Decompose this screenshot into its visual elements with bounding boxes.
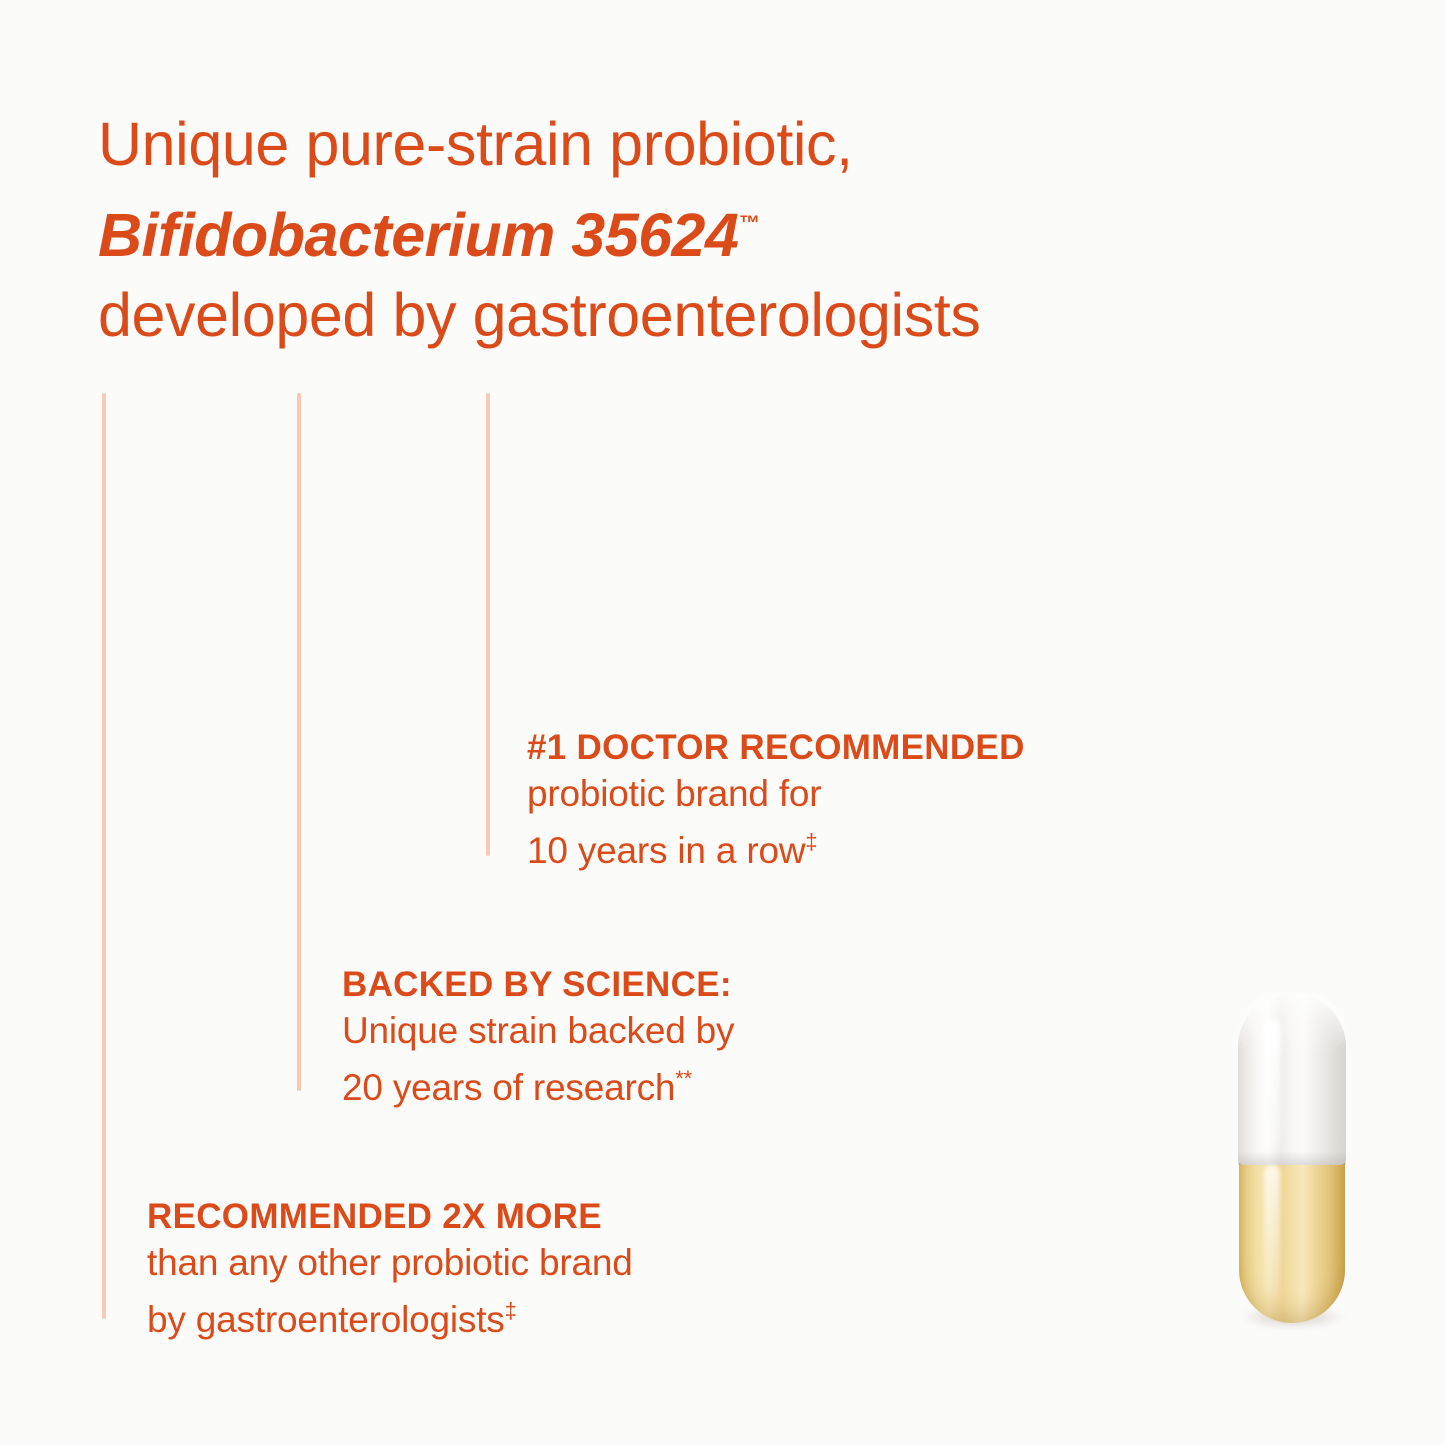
vertical-rule-short bbox=[486, 393, 490, 856]
headline-line-1: Unique pure-strain probiotic, bbox=[98, 104, 1388, 184]
claim-1-heading: #1 DOCTOR RECOMMENDED bbox=[527, 726, 1025, 770]
vertical-rule-long bbox=[102, 393, 106, 1319]
trademark-icon: ™ bbox=[738, 212, 759, 235]
claim-2-body-line-1: Unique strain backed by bbox=[342, 1007, 734, 1055]
claim-recommended-2x-more: RECOMMENDED 2X MORE than any other probi… bbox=[147, 1195, 633, 1344]
capsule-cap-white bbox=[1238, 993, 1346, 1165]
headline-line-2: Bifidobacterium 35624™ bbox=[98, 184, 1388, 275]
strain-name: Bifidobacterium 35624 bbox=[98, 201, 738, 269]
claim-1-body-line-2: 10 years in a row‡ bbox=[527, 818, 1025, 875]
claim-doctor-recommended: #1 DOCTOR RECOMMENDED probiotic brand fo… bbox=[527, 726, 1025, 875]
vertical-rule-medium bbox=[297, 393, 301, 1091]
claim-backed-by-science: BACKED BY SCIENCE: Unique strain backed … bbox=[342, 963, 734, 1112]
capsule-body-yellow bbox=[1239, 1155, 1345, 1323]
claim-2-footnote-marker: ** bbox=[675, 1066, 692, 1091]
headline-line-3: developed by gastroenterologists bbox=[98, 275, 1388, 355]
claim-3-heading: RECOMMENDED 2X MORE bbox=[147, 1195, 633, 1239]
claim-3-footnote-marker: ‡ bbox=[505, 1298, 517, 1323]
claim-1-body-line-1: probiotic brand for bbox=[527, 770, 1025, 818]
page-headline: Unique pure-strain probiotic, Bifidobact… bbox=[98, 104, 1388, 355]
claim-3-body-text: by gastroenterologists bbox=[147, 1299, 505, 1340]
claim-2-body-line-2: 20 years of research** bbox=[342, 1055, 734, 1112]
claim-3-body-line-1: than any other probiotic brand bbox=[147, 1239, 633, 1287]
claim-1-footnote-marker: ‡ bbox=[805, 829, 817, 854]
capsule-body-highlight bbox=[1264, 1165, 1280, 1297]
claim-1-body-text: 10 years in a row bbox=[527, 830, 805, 871]
capsule-image bbox=[1238, 993, 1348, 1325]
claim-3-body-line-2: by gastroenterologists‡ bbox=[147, 1287, 633, 1344]
claim-2-body-text: 20 years of research bbox=[342, 1067, 675, 1108]
claim-2-heading: BACKED BY SCIENCE: bbox=[342, 963, 734, 1007]
product-feature-panel: Unique pure-strain probiotic, Bifidobact… bbox=[0, 0, 1445, 1445]
capsule-cap-highlight bbox=[1264, 1019, 1281, 1147]
